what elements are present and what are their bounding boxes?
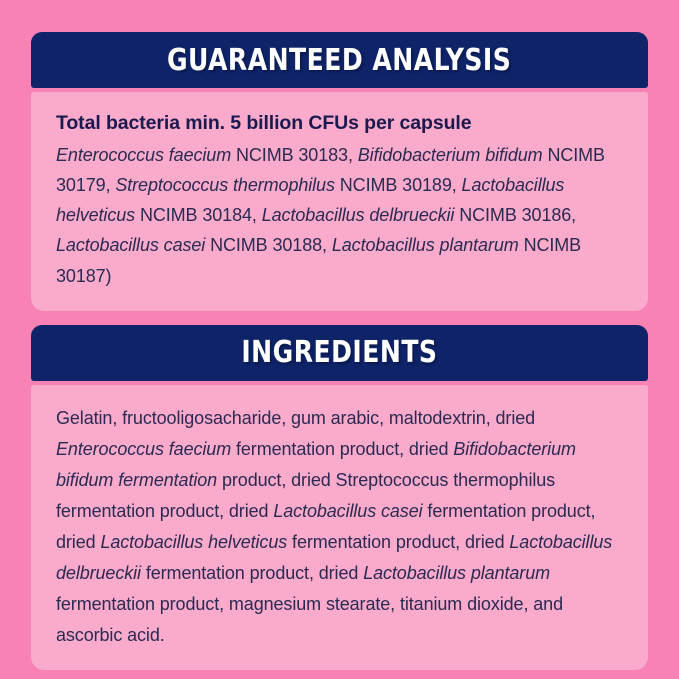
guaranteed-analysis-body: Total bacteria min. 5 billion CFUs per c… <box>31 92 648 311</box>
guaranteed-analysis-header: GUARANTEED ANALYSIS <box>31 32 648 88</box>
species-name: Bifidobacterium bifidum <box>358 145 543 165</box>
body-text-run: NCIMB 30188, <box>205 235 332 255</box>
body-text-run: NCIMB 30189, <box>335 175 462 195</box>
guaranteed-analysis-strain-list: Enterococcus faecium NCIMB 30183, Bifido… <box>56 140 623 291</box>
body-text-run: NCIMB 30186, <box>454 205 576 225</box>
body-text-run: fermentation product, dried <box>141 563 363 583</box>
body-text-run: fermentation product, magnesium stearate… <box>56 594 563 645</box>
body-text-run: fermentation product, dried <box>231 439 453 459</box>
ingredients-list: Gelatin, fructooligosacharide, gum arabi… <box>56 403 623 651</box>
total-bacteria-heading: Total bacteria min. 5 billion CFUs per c… <box>56 110 623 138</box>
species-name: Enterococcus faecium <box>56 439 231 459</box>
species-name: Lactobacillus plantarum <box>363 563 550 583</box>
species-name: Lactobacillus plantarum <box>332 235 519 255</box>
guaranteed-analysis-card: GUARANTEED ANALYSIS Total bacteria min. … <box>31 32 648 311</box>
species-name: Enterococcus faecium <box>56 145 231 165</box>
species-name: Lactobacillus casei <box>56 235 205 255</box>
guaranteed-analysis-title: GUARANTEED ANALYSIS <box>167 43 511 78</box>
species-name: Lactobacillus casei <box>273 501 422 521</box>
ingredients-body: Gelatin, fructooligosacharide, gum arabi… <box>31 385 648 671</box>
ingredients-header: INGREDIENTS <box>31 325 648 381</box>
supplement-label-page: GUARANTEED ANALYSIS Total bacteria min. … <box>0 0 679 679</box>
species-name: Lactobacillus delbrueckii <box>262 205 455 225</box>
body-text-run: fermentation product, dried <box>287 532 509 552</box>
body-text-run: Gelatin, fructooligosacharide, gum arabi… <box>56 408 535 428</box>
body-text-run: NCIMB 30183, <box>231 145 358 165</box>
ingredients-card: INGREDIENTS Gelatin, fructooligosacharid… <box>31 325 648 671</box>
species-name: Lactobacillus helveticus <box>100 532 287 552</box>
ingredients-title: INGREDIENTS <box>241 335 437 370</box>
species-name: Streptococcus thermophilus <box>115 175 335 195</box>
body-text-run: NCIMB 30184, <box>135 205 262 225</box>
